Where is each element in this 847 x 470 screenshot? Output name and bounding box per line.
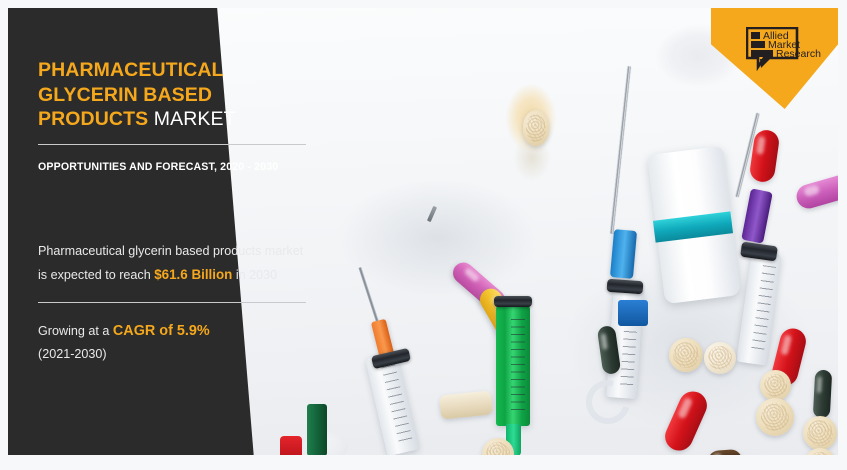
logo-line-3: Research	[776, 48, 821, 60]
market-size-trail: in 2030	[232, 268, 277, 282]
round-tablet-1	[669, 338, 703, 372]
page-title: PHARMACEUTICAL GLYCERIN BASED PRODUCTS M…	[38, 58, 310, 132]
green-syringe-barrel	[496, 304, 530, 426]
market-report-banner: PHARMACEUTICAL GLYCERIN BASED PRODUCTS M…	[0, 0, 847, 470]
green-bottle-cap	[307, 404, 327, 455]
stat-divider	[38, 302, 306, 303]
cagr-value: CAGR of 5.9%	[113, 323, 210, 339]
title-plain: MARKET	[154, 108, 236, 130]
red-capsule-top	[749, 129, 781, 184]
blue-fragment	[618, 300, 648, 326]
purple-needle-hub	[741, 188, 773, 243]
blue-syringe-ring	[607, 279, 644, 294]
green-syringe-collar	[494, 296, 532, 307]
round-tablet-4	[756, 398, 794, 436]
green-syringe-graduations	[511, 319, 525, 414]
surface-shadow	[338, 178, 538, 298]
blue-needle-hub	[610, 229, 637, 279]
report-subtitle: OPPORTUNITIES AND FORECAST, 2020 - 2030	[38, 159, 310, 175]
round-tablet-3	[760, 370, 791, 401]
cagr-stat: Growing at a CAGR of 5.9% (2021-2030)	[38, 319, 310, 365]
dark-green-capsule-2	[813, 370, 832, 419]
dark-brown-capsule	[707, 449, 742, 455]
cagr-period: (2021-2030)	[38, 347, 107, 361]
logo-mark-icon: Allied Market Research	[746, 27, 830, 71]
magenta-capsule	[794, 173, 838, 212]
blue-needle-shaft	[610, 66, 630, 233]
allied-market-research-logo[interactable]: Allied Market Research	[746, 27, 830, 71]
title-divider	[38, 144, 306, 145]
round-tablet-8	[523, 110, 549, 146]
round-tablet-2	[704, 342, 736, 374]
round-tablet-5	[803, 416, 837, 450]
report-text-block: PHARMACEUTICAL GLYCERIN BASED PRODUCTS M…	[38, 58, 310, 366]
red-fragment	[280, 436, 302, 455]
oblong-beige-tablet	[439, 390, 493, 419]
market-size-stat: Pharmaceutical glycerin based products m…	[38, 241, 310, 286]
cagr-lead: Growing at a	[38, 324, 113, 338]
round-tablet-6	[804, 448, 836, 455]
orange-syringe-graduations	[382, 364, 413, 443]
market-size-value: $61.6 Billion	[154, 267, 232, 282]
